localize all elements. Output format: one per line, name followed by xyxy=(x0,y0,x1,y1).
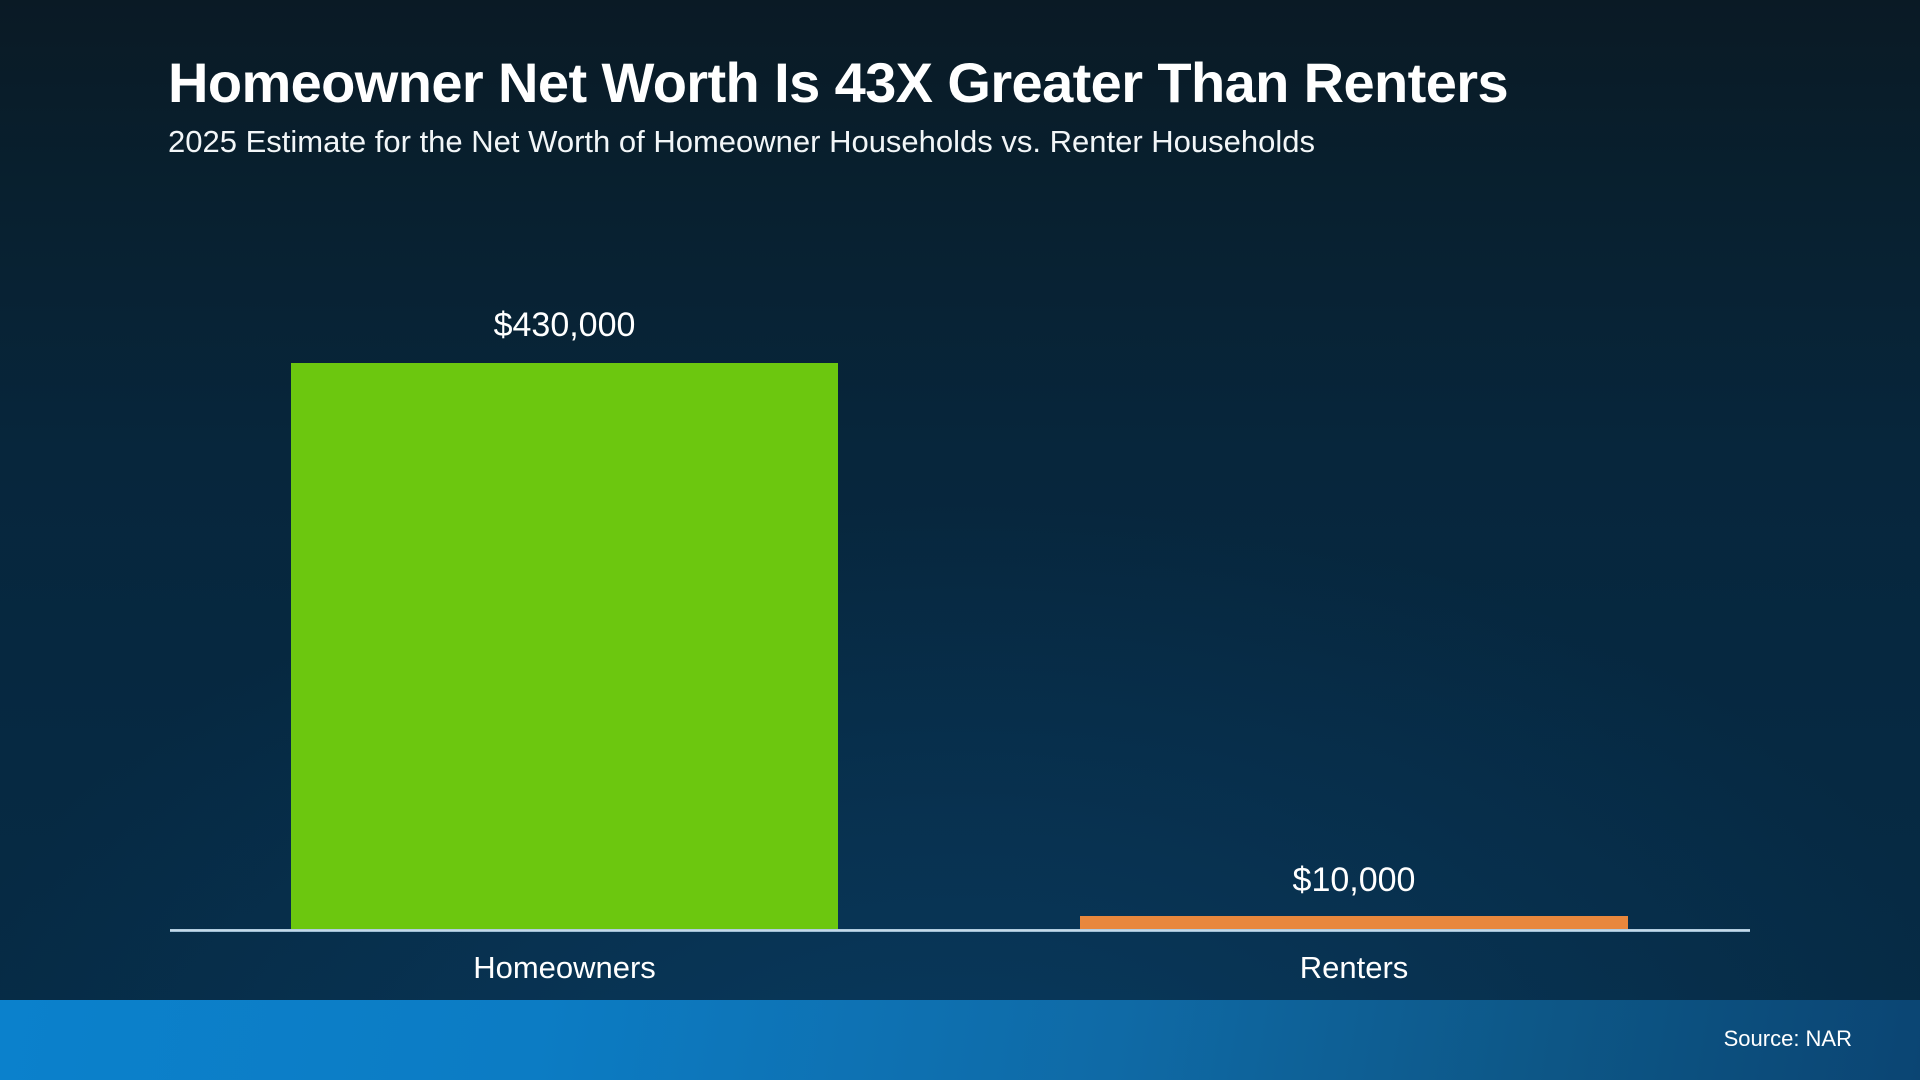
source-attribution: Source: NAR xyxy=(1724,1026,1852,1052)
bar-renters xyxy=(1080,916,1628,929)
slide-root: Homeowner Net Worth Is 43X Greater Than … xyxy=(0,0,1920,1080)
bar-value-label-homeowners: $430,000 xyxy=(291,306,838,345)
bar-value-label-renters: $10,000 xyxy=(1080,861,1628,900)
category-label-homeowners: Homeowners xyxy=(291,950,838,986)
category-label-renters: Renters xyxy=(1080,950,1628,986)
footer-band: Source: NAR xyxy=(0,1000,1920,1080)
bar-homeowners xyxy=(291,363,838,929)
x-axis-line xyxy=(170,929,1750,932)
bar-chart: $430,000 $10,000 Homeowners Renters xyxy=(0,0,1920,1000)
